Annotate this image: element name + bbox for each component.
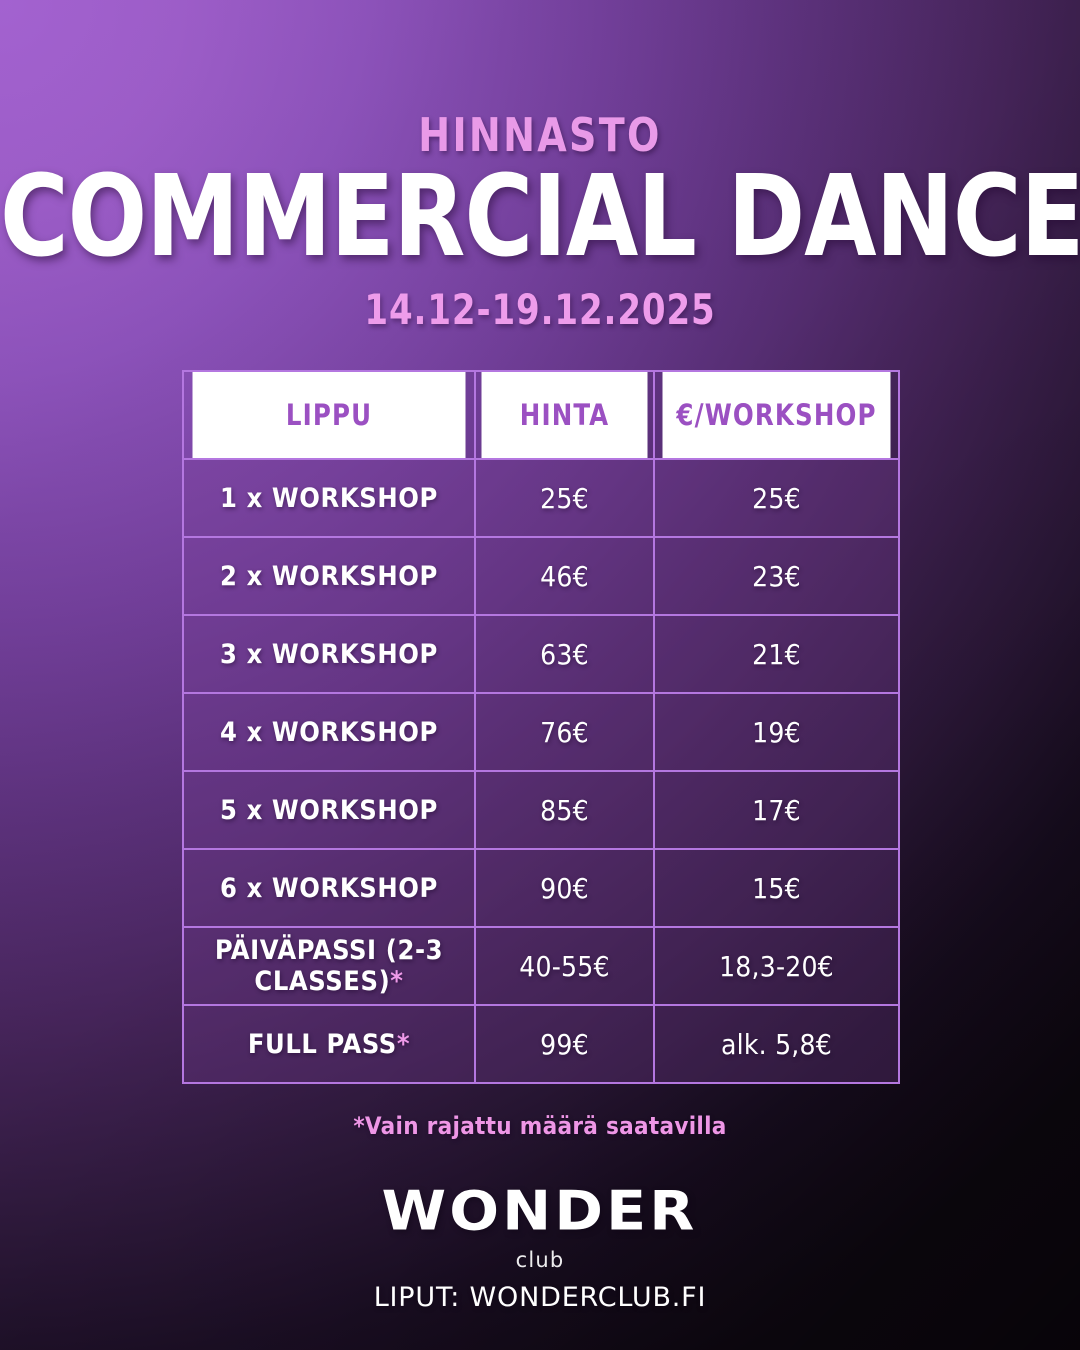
column-header-perworkshop: €/WORKSHOP bbox=[661, 371, 891, 459]
table-header: LIPPU HINTA €/WORKSHOP bbox=[183, 371, 899, 459]
table-body: 1 x WORKSHOP 25€ 25€ 2 x WORKSHOP 46€ 23… bbox=[183, 459, 899, 1083]
poster-content: HINNASTO COMMERCIAL DANCE WEEK 14.12-19.… bbox=[0, 0, 1080, 1350]
cell-ticket: 2 x WORKSHOP bbox=[183, 537, 475, 615]
cell-per-workshop: 18,3-20€ bbox=[654, 927, 899, 1005]
ticket-label: 2 x WORKSHOP bbox=[220, 561, 438, 592]
cell-ticket: 4 x WORKSHOP bbox=[183, 693, 475, 771]
cell-price: 63€ bbox=[475, 615, 654, 693]
cell-ticket: 3 x WORKSHOP bbox=[183, 615, 475, 693]
ticket-label: 6 x WORKSHOP bbox=[220, 873, 438, 904]
column-header-price: HINTA bbox=[480, 371, 648, 459]
cell-ticket: FULL PASS* bbox=[183, 1005, 475, 1083]
cell-price: 40-55€ bbox=[475, 927, 654, 1005]
cell-ticket: 1 x WORKSHOP bbox=[183, 459, 475, 537]
cell-per-workshop: 25€ bbox=[654, 459, 899, 537]
cell-ticket: PÄIVÄPASSI (2-3 CLASSES)* bbox=[183, 927, 475, 1005]
ticket-label: 4 x WORKSHOP bbox=[220, 717, 438, 748]
cell-price: 85€ bbox=[475, 771, 654, 849]
table-row: 4 x WORKSHOP 76€ 19€ bbox=[183, 693, 899, 771]
cell-per-workshop: 21€ bbox=[654, 615, 899, 693]
cell-price: 90€ bbox=[475, 849, 654, 927]
cell-price: 99€ bbox=[475, 1005, 654, 1083]
ticket-asterisk: * bbox=[390, 966, 403, 997]
ticket-label: 1 x WORKSHOP bbox=[220, 483, 438, 514]
brand-logo: WONDER club bbox=[0, 1180, 1080, 1272]
poster-background: HINNASTO COMMERCIAL DANCE WEEK 14.12-19.… bbox=[0, 0, 1080, 1350]
table-row: PÄIVÄPASSI (2-3 CLASSES)* 40-55€ 18,3-20… bbox=[183, 927, 899, 1005]
cell-price: 46€ bbox=[475, 537, 654, 615]
table-row: 1 x WORKSHOP 25€ 25€ bbox=[183, 459, 899, 537]
ticket-asterisk: * bbox=[397, 1029, 410, 1060]
table-row: FULL PASS* 99€ alk. 5,8€ bbox=[183, 1005, 899, 1083]
cell-per-workshop: 17€ bbox=[654, 771, 899, 849]
cell-ticket: 6 x WORKSHOP bbox=[183, 849, 475, 927]
table-header-row: LIPPU HINTA €/WORKSHOP bbox=[183, 371, 899, 459]
logo-subtext: club bbox=[0, 1248, 1080, 1272]
table-row: 2 x WORKSHOP 46€ 23€ bbox=[183, 537, 899, 615]
table-row: 3 x WORKSHOP 63€ 21€ bbox=[183, 615, 899, 693]
ticket-label: FULL PASS bbox=[248, 1029, 397, 1060]
cell-per-workshop: 19€ bbox=[654, 693, 899, 771]
page-title: COMMERCIAL DANCE WEEK bbox=[0, 160, 1080, 272]
event-dates: 14.12-19.12.2025 bbox=[54, 285, 1026, 334]
ticket-label: PÄIVÄPASSI (2-3 CLASSES) bbox=[215, 935, 443, 997]
column-header-ticket: LIPPU bbox=[192, 371, 466, 459]
table-row: 5 x WORKSHOP 85€ 17€ bbox=[183, 771, 899, 849]
cell-per-workshop: alk. 5,8€ bbox=[654, 1005, 899, 1083]
table-row: 6 x WORKSHOP 90€ 15€ bbox=[183, 849, 899, 927]
cell-price: 25€ bbox=[475, 459, 654, 537]
cell-price: 76€ bbox=[475, 693, 654, 771]
availability-footnote: *Vain rajattu määrä saatavilla bbox=[0, 1112, 1080, 1140]
cell-per-workshop: 23€ bbox=[654, 537, 899, 615]
pricing-table: LIPPU HINTA €/WORKSHOP 1 x WORKSHOP 25€ … bbox=[182, 370, 900, 1084]
tickets-url: LIPUT: WONDERCLUB.FI bbox=[0, 1282, 1080, 1313]
cell-per-workshop: 15€ bbox=[654, 849, 899, 927]
cell-ticket: 5 x WORKSHOP bbox=[183, 771, 475, 849]
logo-wordmark: WONDER bbox=[382, 1184, 698, 1239]
ticket-label: 3 x WORKSHOP bbox=[220, 639, 438, 670]
ticket-label: 5 x WORKSHOP bbox=[220, 795, 438, 826]
